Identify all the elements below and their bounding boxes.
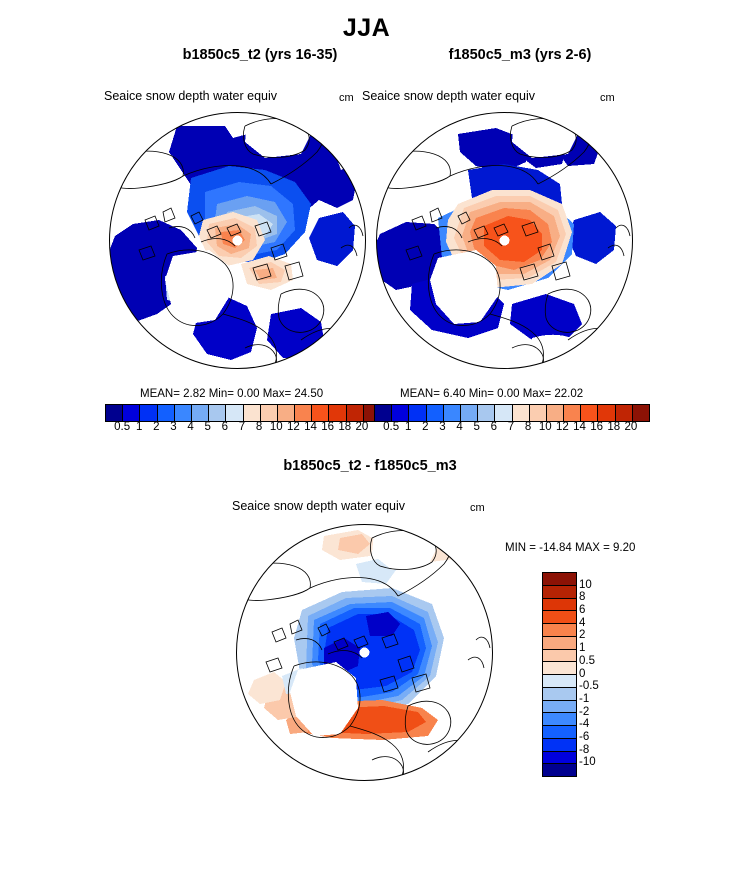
colorbar-tick-label: 0.5 [383,421,399,433]
colorbar-tick-label: 4 [456,421,462,433]
colorbar-segment [616,405,633,421]
units-label-right: cm [600,92,615,104]
colorbar-tick-label: 4 [187,421,193,433]
colorbar-segment [409,405,426,421]
variable-label-right: Seaice snow depth water equiv [362,89,535,103]
colorbar-tick-label: 14 [304,421,317,433]
colorbar-segment [375,405,392,421]
colorbar-segment [295,405,312,421]
units-label-diff: cm [470,502,485,514]
colorbar-segment [543,739,576,752]
colorbar-tick-label: 18 [607,421,620,433]
colorbar-segment [543,637,576,650]
colorbar-tick-label: -8 [579,744,589,756]
colorbar-segment [495,405,512,421]
colorbar-tick-label: 6 [491,421,497,433]
colorbar-tick-label: -0.5 [579,680,599,692]
colorbar-segment [564,405,581,421]
colorbar-tick-label: 8 [256,421,262,433]
colorbar-segment [543,586,576,599]
colorbar-tick-label: 12 [287,421,300,433]
colorbar-tick-label: 3 [170,421,176,433]
colorbar-tick-label: -1 [579,693,589,705]
colorbar-tick-label: 4 [579,617,585,629]
colorbar-tick-label: 8 [579,591,585,603]
colorbar-segment [261,405,278,421]
colorbar-segment [175,405,192,421]
colorbar-segment [543,611,576,624]
colorbar-segment [543,688,576,701]
colorbar-tick-label: 16 [321,421,334,433]
colorbar-right [374,404,650,422]
colorbar-tick-label: 7 [508,421,514,433]
colorbar-tick-label: 5 [205,421,211,433]
colorbar-segment [598,405,615,421]
stats-left: MEAN= 2.82 Min= 0.00 Max= 24.50 [140,388,323,400]
colorbar-tick-label: -4 [579,718,589,730]
stats-diff: MIN = -14.84 MAX = 9.20 [505,542,635,554]
colorbar-tick-label: 1 [579,642,585,654]
colorbar-tick-label: -2 [579,706,589,718]
colorbar-segment [543,662,576,675]
colorbar-tick-label: -6 [579,731,589,743]
panel-title-diff: b1850c5_t2 - f1850c5_m3 [180,458,560,474]
variable-label-left: Seaice snow depth water equiv [104,89,277,103]
colorbar-tick-label: 12 [556,421,569,433]
colorbar-tick-label: 2 [579,629,585,641]
colorbar-diff-labels: 10864210.50-0.5-1-2-4-6-8-10 [579,572,619,775]
colorbar-segment [530,405,547,421]
colorbar-diff [542,572,577,777]
units-label-left: cm [339,92,354,104]
colorbar-segment [226,405,243,421]
colorbar-segment [543,726,576,739]
colorbar-tick-label: 1 [405,421,411,433]
colorbar-tick-label: 0.5 [114,421,130,433]
colorbar-segment [543,599,576,612]
colorbar-segment [633,405,649,421]
colorbar-tick-label: 7 [239,421,245,433]
colorbar-segment [140,405,157,421]
colorbar-right-labels: 0.512345678101214161820 [374,421,648,437]
polar-map-diff [232,520,497,785]
colorbar-segment [329,405,346,421]
colorbar-segment [543,624,576,637]
colorbar-segment [543,713,576,726]
polar-map-left [105,108,370,373]
colorbar-tick-label: 10 [539,421,552,433]
figure-title: JJA [0,14,733,43]
colorbar-tick-label: 0.5 [579,655,595,667]
colorbar-tick-label: 3 [439,421,445,433]
colorbar-segment [543,701,576,714]
colorbar-segment [547,405,564,421]
colorbar-segment [123,405,140,421]
colorbar-segment [461,405,478,421]
colorbar-tick-label: 14 [573,421,586,433]
colorbar-tick-label: 6 [579,604,585,616]
colorbar-segment [581,405,598,421]
panel-title-right: f1850c5_m3 (yrs 2-6) [330,47,710,63]
colorbar-segment [347,405,364,421]
colorbar-segment [209,405,226,421]
colorbar-segment [444,405,461,421]
colorbar-segment [312,405,329,421]
colorbar-tick-label: 20 [355,421,368,433]
colorbar-segment [158,405,175,421]
colorbar-segment [192,405,209,421]
colorbar-segment [543,675,576,688]
colorbar-tick-label: 8 [525,421,531,433]
colorbar-segment [278,405,295,421]
colorbar-segment [513,405,530,421]
variable-label-diff: Seaice snow depth water equiv [232,499,405,513]
colorbar-segment [543,650,576,663]
colorbar-tick-label: 16 [590,421,603,433]
colorbar-tick-label: 6 [222,421,228,433]
colorbar-tick-label: 5 [474,421,480,433]
colorbar-tick-label: 10 [579,579,592,591]
polar-map-right [372,108,637,373]
colorbar-tick-label: -10 [579,756,596,768]
colorbar-tick-label: 18 [338,421,351,433]
stats-right: MEAN= 6.40 Min= 0.00 Max= 22.02 [400,388,583,400]
colorbar-segment [427,405,444,421]
colorbar-tick-label: 10 [270,421,283,433]
colorbar-tick-label: 2 [422,421,428,433]
colorbar-left [105,404,381,422]
colorbar-tick-label: 0 [579,668,585,680]
colorbar-segment [244,405,261,421]
colorbar-tick-label: 1 [136,421,142,433]
colorbar-segment [543,573,576,586]
colorbar-left-labels: 0.512345678101214161820 [105,421,379,437]
colorbar-segment [392,405,409,421]
colorbar-segment [543,752,576,765]
colorbar-segment [106,405,123,421]
colorbar-segment [543,764,576,776]
colorbar-tick-label: 2 [153,421,159,433]
colorbar-tick-label: 20 [624,421,637,433]
colorbar-segment [478,405,495,421]
